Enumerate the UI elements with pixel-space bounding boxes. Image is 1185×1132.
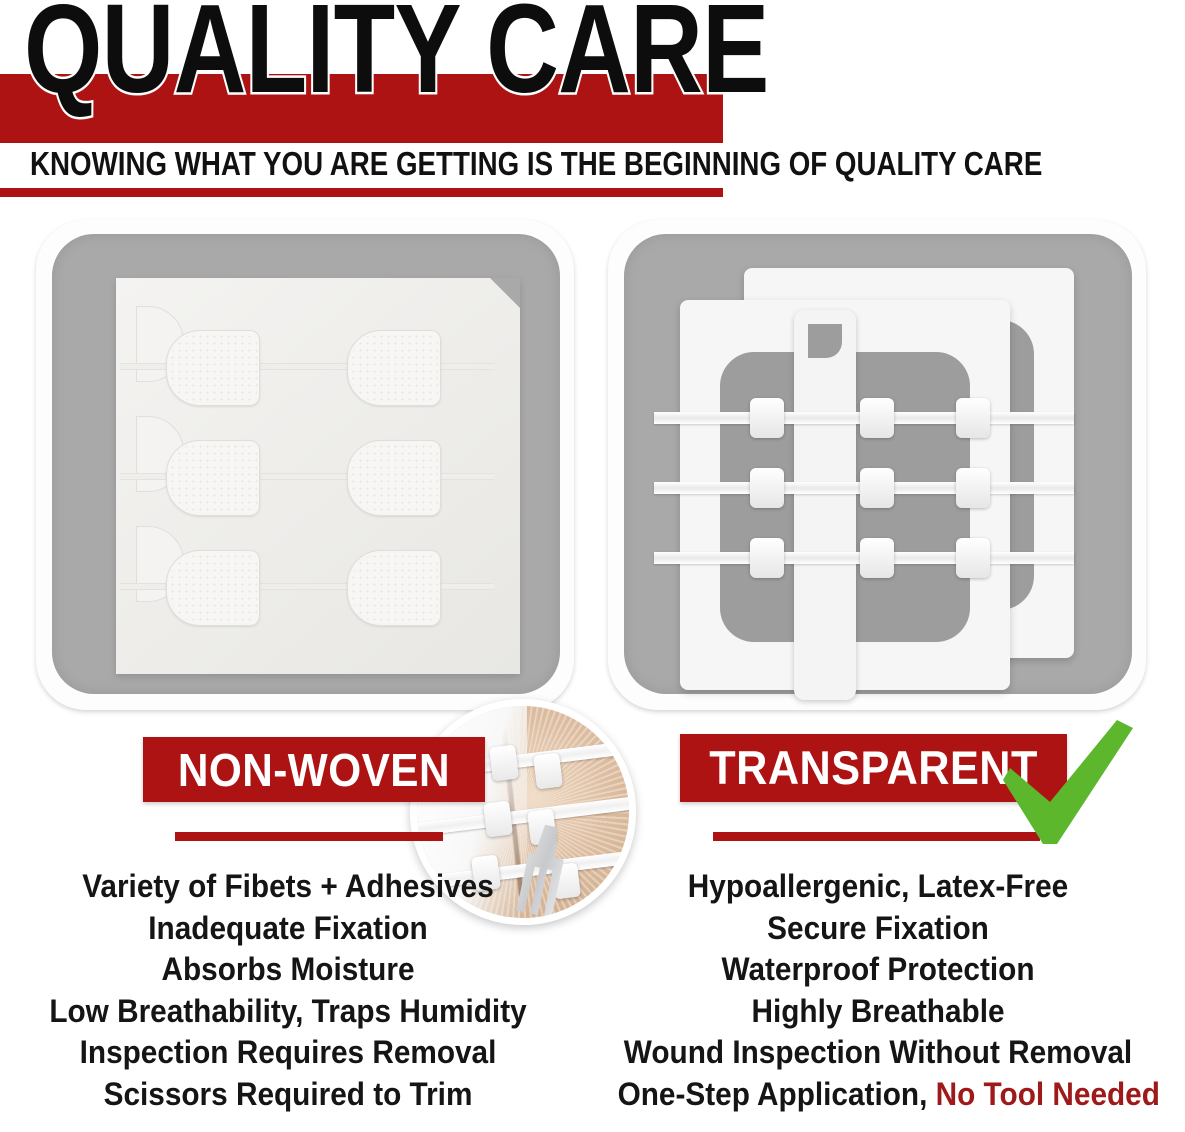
page-subtitle: KNOWING WHAT YOU ARE GETTING IS THE BEGI…: [30, 146, 1042, 182]
badge-label-text: TRANSPARENT: [709, 745, 1038, 791]
page-title: QUALITY CARE: [24, 0, 769, 112]
non-woven-strip-row: [142, 330, 472, 404]
feature-text-highlight: No Tool Needed: [936, 1076, 1160, 1112]
feature-item: Absorbs Moisture: [28, 949, 549, 991]
feature-item: Inspection Requires Removal: [28, 1032, 549, 1074]
badge-label-text: NON-WOVEN: [178, 747, 450, 793]
feature-item: Highly Breathable: [618, 991, 1139, 1033]
page-header: QUALITY CARE KNOWING WHAT YOU ARE GETTIN…: [0, 0, 1185, 200]
non-woven-strip-row: [142, 440, 472, 514]
non-woven-strip-row: [142, 550, 472, 624]
label-badge-transparent: TRANSPARENT: [680, 734, 1067, 802]
feature-list-non-woven: Variety of Fibets + Adhesives Inadequate…: [8, 866, 568, 1115]
feature-item-mixed: One-Step Application, No Tool Needed: [618, 1074, 1139, 1116]
feature-item: Inadequate Fixation: [28, 908, 549, 950]
non-woven-backing-card: [116, 278, 520, 674]
subtitle-red-rule: [0, 188, 723, 197]
transparent-film-pull-tab: [794, 310, 856, 700]
feature-item: Hypoallergenic, Latex-Free: [618, 866, 1139, 908]
feature-list-transparent: Hypoallergenic, Latex-Free Secure Fixati…: [598, 866, 1158, 1115]
feature-item: Low Breathability, Traps Humidity: [28, 991, 549, 1033]
feature-item: Variety of Fibets + Adhesives: [28, 866, 549, 908]
feature-item-warning: Scissors Required to Trim: [28, 1074, 549, 1116]
divider-right: [713, 832, 1040, 841]
feature-text-plain: One-Step Application,: [618, 1076, 936, 1112]
label-badge-non-woven: NON-WOVEN: [143, 737, 485, 802]
blister-tray-right: [624, 234, 1132, 694]
feature-item: Waterproof Protection: [618, 949, 1139, 991]
feature-item: Wound Inspection Without Removal: [618, 1032, 1139, 1074]
product-panel-transparent: [600, 212, 1160, 722]
feature-item: Secure Fixation: [618, 908, 1139, 950]
blister-tray-left: [52, 234, 560, 694]
divider-left: [175, 832, 443, 841]
product-panel-non-woven: [28, 212, 588, 722]
